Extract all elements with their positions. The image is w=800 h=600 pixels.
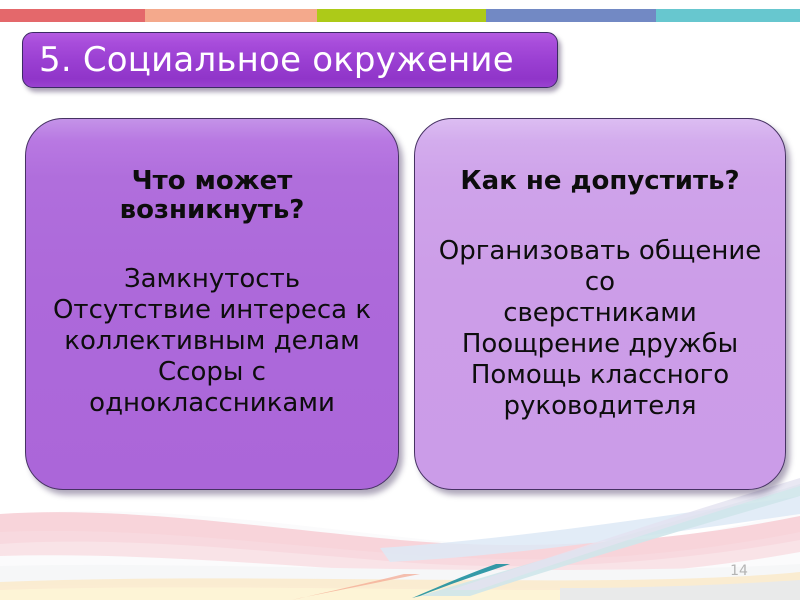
card-problems-line: Ссоры с <box>40 357 384 388</box>
swoosh-blue <box>380 496 800 562</box>
color-segment-green <box>317 9 486 22</box>
card-prevention: Как не допустить? Организовать общение с… <box>414 118 786 490</box>
card-prevention-line: сверстниками <box>429 298 771 329</box>
swoosh-pale-band <box>0 564 800 588</box>
card-prevention-line: Организовать общение со <box>429 236 771 298</box>
color-segment-teal <box>656 9 800 22</box>
card-prevention-line: Помощь классного <box>429 360 771 391</box>
page-number: 14 <box>724 563 754 579</box>
color-segment-blue <box>486 9 656 22</box>
swoosh-light-yellow <box>0 587 560 600</box>
card-problems-heading: Что может возникнуть? <box>40 167 384 224</box>
top-color-band <box>0 9 800 22</box>
swoosh-teal-diagonal <box>420 484 800 596</box>
card-prevention-line: руководителя <box>429 391 771 422</box>
color-segment-red <box>0 9 145 22</box>
slide: 5. Социальное окружение Что может возник… <box>0 0 800 600</box>
swoosh-white-back <box>0 510 800 600</box>
card-problems: Что может возникнуть? Замкнутость Отсутс… <box>25 118 399 490</box>
card-problems-content: Что может возникнуть? Замкнутость Отсутс… <box>26 119 398 419</box>
swoosh-pink-lower <box>0 531 800 577</box>
card-prevention-body: Организовать общение со сверстниками Поо… <box>429 236 771 422</box>
card-problems-line: Отсутствие интереса к <box>40 295 384 326</box>
swoosh-grey <box>560 580 800 600</box>
card-problems-line: одноклассниками <box>40 388 384 419</box>
card-problems-line: Замкнутость <box>40 264 384 295</box>
swoosh-cream <box>0 572 800 600</box>
card-prevention-line: Поощрение дружбы <box>429 329 771 360</box>
swoosh-teal-accent <box>412 564 510 598</box>
slide-title-text: 5. Социальное окружение <box>39 43 514 77</box>
color-segment-salmon <box>145 9 317 22</box>
swoosh-pink-upper <box>0 512 800 566</box>
card-problems-line: коллективным делам <box>40 326 384 357</box>
card-problems-body: Замкнутость Отсутствие интереса к коллек… <box>40 264 384 419</box>
card-prevention-content: Как не допустить? Организовать общение с… <box>415 119 785 422</box>
swoosh-orange-accent <box>292 574 420 600</box>
card-prevention-heading: Как не допустить? <box>429 167 771 196</box>
slide-title-plate: 5. Социальное окружение <box>22 32 558 88</box>
